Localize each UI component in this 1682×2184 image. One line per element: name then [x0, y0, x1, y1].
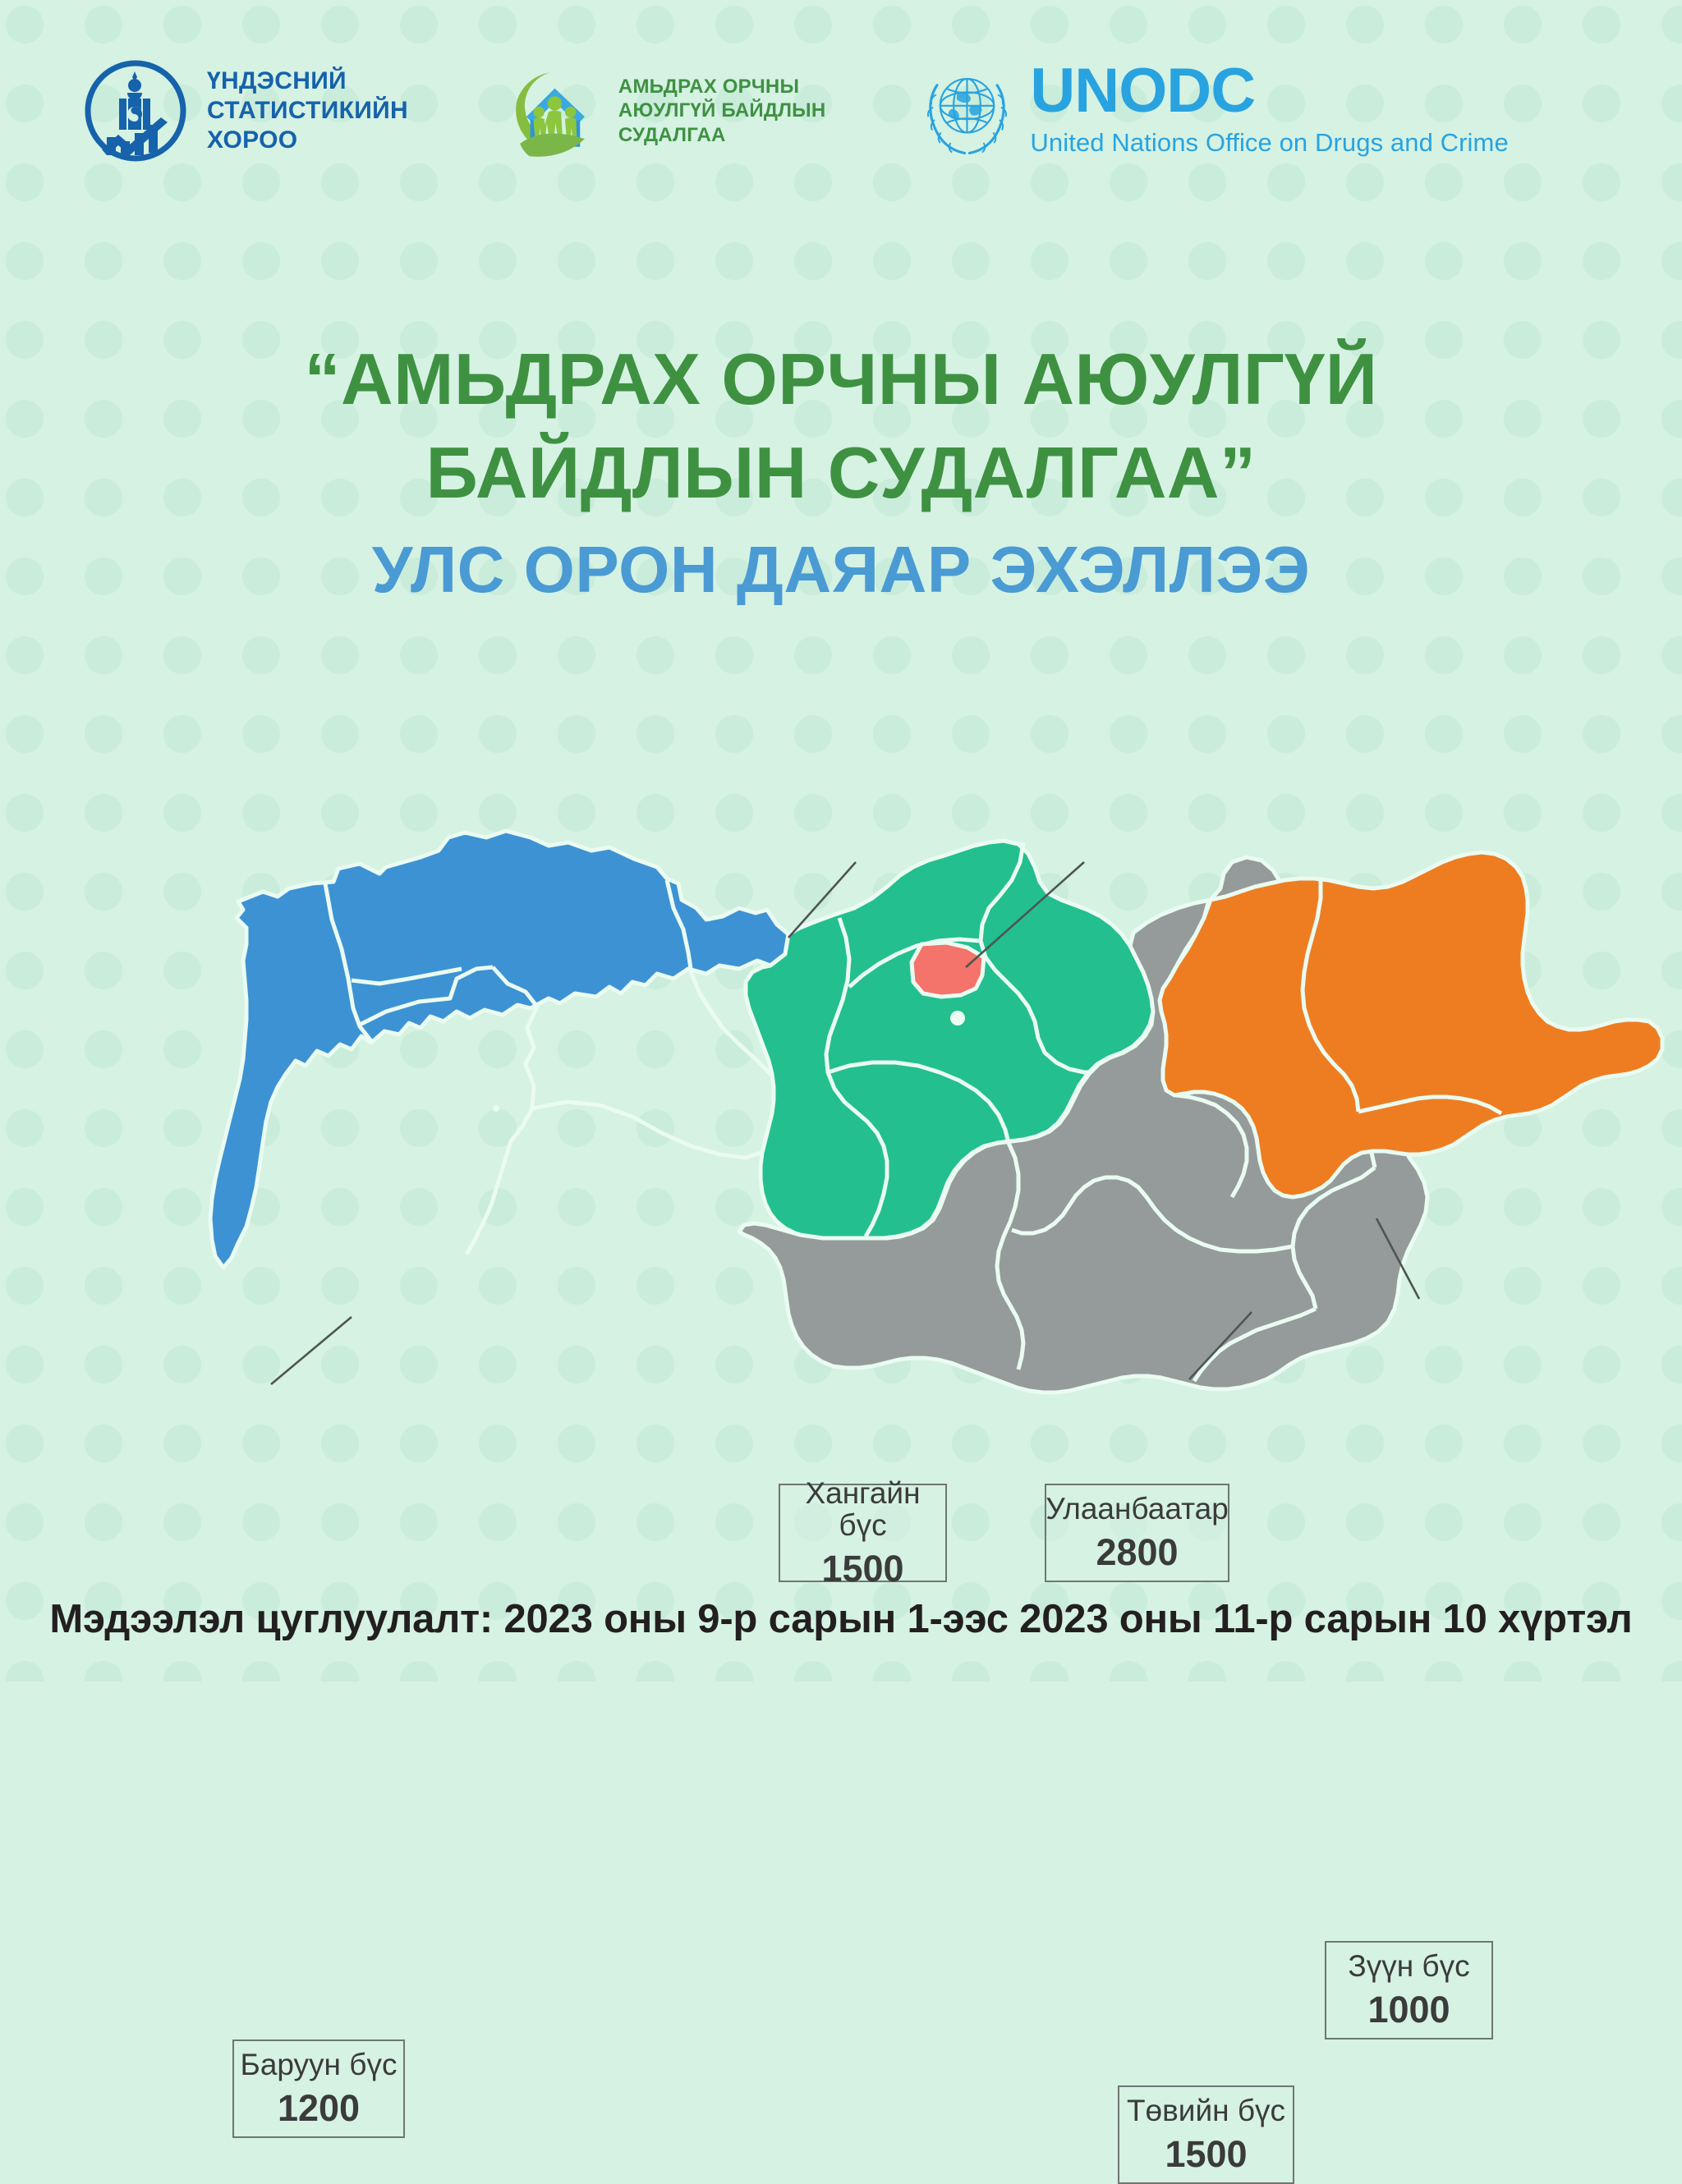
- survey-line-2: АЮУЛГҮЙ БАЙДЛЫН: [618, 99, 826, 122]
- callout-western-name: Баруун бүс: [241, 2049, 398, 2081]
- nso-line-3: ХОРОО: [207, 126, 408, 155]
- page-title-line-2: БАЙДЛЫН СУДАЛГАА”: [0, 426, 1682, 520]
- house-family-leaf-emblem-icon: [503, 60, 605, 163]
- callout-western-value: 1200: [278, 2089, 360, 2127]
- callout-khangai-name: Хангайн бүс: [780, 1478, 945, 1542]
- page-subtitle: УЛС ОРОН ДАЯАР ЭХЭЛЛЭЭ: [0, 527, 1682, 613]
- callout-eastern-name: Зүүн бүс: [1348, 1951, 1469, 1983]
- callout-central-name: Төвийн бүс: [1127, 2095, 1285, 2127]
- map-region-western[interactable]: [210, 831, 788, 1268]
- footer-collection-period: Мэдээлэл цуглуулалт: 2023 оны 9-р сарын …: [0, 1596, 1682, 1642]
- title-block: “АМЬДРАХ ОРЧНЫ АЮУЛГҮЙ БАЙДЛЫН СУДАЛГАА”…: [0, 333, 1682, 613]
- callout-ulaanbaatar-name: Улаанбаатар: [1046, 1493, 1229, 1526]
- callout-central-value: 1500: [1165, 2135, 1247, 2173]
- callout-khangai-value: 1500: [821, 1549, 903, 1588]
- logo-safety-survey: АМЬДРАХ ОРЧНЫ АЮУЛГҮЙ БАЙДЛЫН СУДАЛГАА: [503, 60, 826, 163]
- nso-logo-text: ҮНДЭСНИЙ СТАТИСТИКИЙН ХОРОО: [207, 67, 408, 155]
- un-globe-laurel-emblem-icon: [916, 60, 1018, 163]
- callout-ulaanbaatar[interactable]: Улаанбаатар 2800: [1045, 1484, 1229, 1582]
- callout-eastern-value: 1000: [1367, 1990, 1450, 2029]
- unodc-acronym: UNODC: [1030, 62, 1508, 121]
- survey-logo-text: АМЬДРАХ ОРЧНЫ АЮУЛГҮЙ БАЙДЛЫН СУДАЛГАА: [618, 75, 826, 147]
- logo-header: ҮНДЭСНИЙ СТАТИСТИКИЙН ХОРОО АМЬДРАХ ОРЧН…: [0, 0, 1682, 222]
- callout-western[interactable]: Баруун бүс 1200: [232, 2039, 405, 2138]
- map-region-ulaanbaatar[interactable]: [912, 943, 984, 997]
- survey-line-1: АМЬДРАХ ОРЧНЫ: [618, 75, 826, 99]
- page-title-line-1: “АМЬДРАХ ОРЧНЫ АЮУЛГҮЙ: [0, 333, 1682, 426]
- nso-line-1: ҮНДЭСНИЙ: [207, 67, 408, 96]
- map-lake-dot-2: [493, 1105, 499, 1112]
- logo-national-statistics-office: ҮНДЭСНИЙ СТАТИСТИКИЙН ХОРОО: [82, 57, 408, 164]
- callout-central[interactable]: Төвийн бүс 1500: [1118, 2085, 1294, 2184]
- callout-khangai[interactable]: Хангайн бүс 1500: [779, 1484, 947, 1582]
- callout-ulaanbaatar-value: 2800: [1096, 1533, 1178, 1571]
- unodc-subtitle: United Nations Office on Drugs and Crime: [1030, 126, 1508, 160]
- nso-line-2: СТАТИСТИКИЙН: [207, 96, 408, 126]
- mongolia-region-map: Хангайн бүс 1500 Улаанбаатар 2800 Баруун…: [0, 723, 1682, 1478]
- mongolia-soyombo-statistics-emblem-icon: [82, 57, 189, 164]
- map-lake-dot-1: [950, 1011, 965, 1025]
- unodc-logo-text: UNODC United Nations Office on Drugs and…: [1030, 62, 1508, 160]
- callout-eastern[interactable]: Зүүн бүс 1000: [1325, 1941, 1493, 2039]
- logo-unodc: UNODC United Nations Office on Drugs and…: [916, 60, 1508, 163]
- survey-line-3: СУДАЛГАА: [618, 123, 826, 147]
